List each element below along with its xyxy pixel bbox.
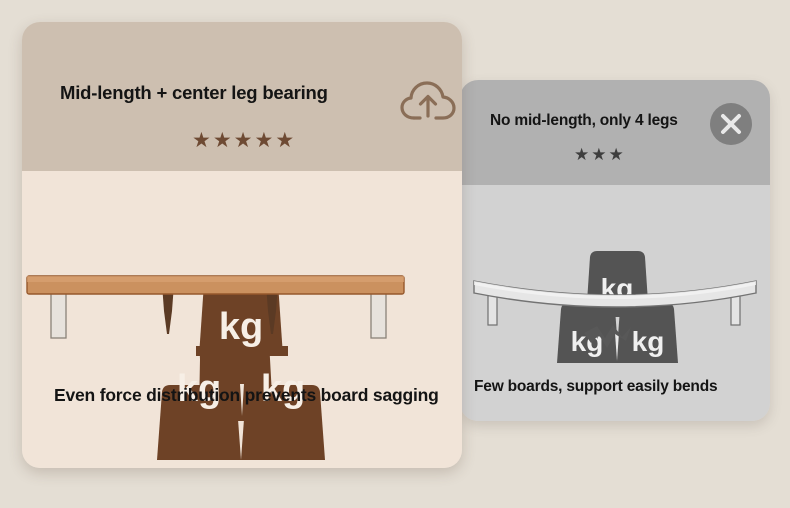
illustration-even-support: kg kg kg [22, 171, 462, 468]
close-circle-icon[interactable] [710, 103, 752, 145]
star-icon: ★ [213, 130, 232, 151]
star-icon: ★ [234, 130, 253, 151]
card-good-rating-stars: ★ ★ ★ ★ ★ [192, 130, 294, 151]
card-bad-title: No mid-length, only 4 legs [490, 112, 678, 130]
star-icon: ★ [192, 130, 211, 151]
star-icon: ★ [591, 146, 606, 163]
weight-label-right: kg [632, 326, 665, 357]
card-bad-header: No mid-length, only 4 legs ★ ★ ★ [460, 80, 770, 185]
card-good-title: Mid-length + center leg bearing [60, 82, 328, 104]
card-good-design[interactable]: Mid-length + center leg bearing ★ ★ ★ ★ … [22, 22, 462, 468]
card-good-header: Mid-length + center leg bearing ★ ★ ★ ★ … [22, 22, 462, 171]
weight-label-top: kg [219, 306, 263, 348]
star-icon: ★ [254, 130, 273, 151]
cloud-upload-icon[interactable] [400, 78, 456, 126]
star-icon: ★ [574, 146, 589, 163]
card-bad-design[interactable]: No mid-length, only 4 legs ★ ★ ★ [460, 80, 770, 421]
card-good-caption: Even force distribution prevents board s… [54, 385, 439, 406]
card-good-body: kg kg kg Even force distribution prevent… [22, 171, 462, 468]
card-bad-body: kg kg kg Few boards, support easily bend… [460, 185, 770, 421]
star-icon: ★ [609, 146, 624, 163]
star-icon: ★ [275, 130, 294, 151]
card-bad-caption: Few boards, support easily bends [474, 378, 717, 396]
comparison-stage: Mid-length + center leg bearing ★ ★ ★ ★ … [0, 0, 790, 508]
card-bad-rating-stars: ★ ★ ★ [574, 146, 624, 163]
